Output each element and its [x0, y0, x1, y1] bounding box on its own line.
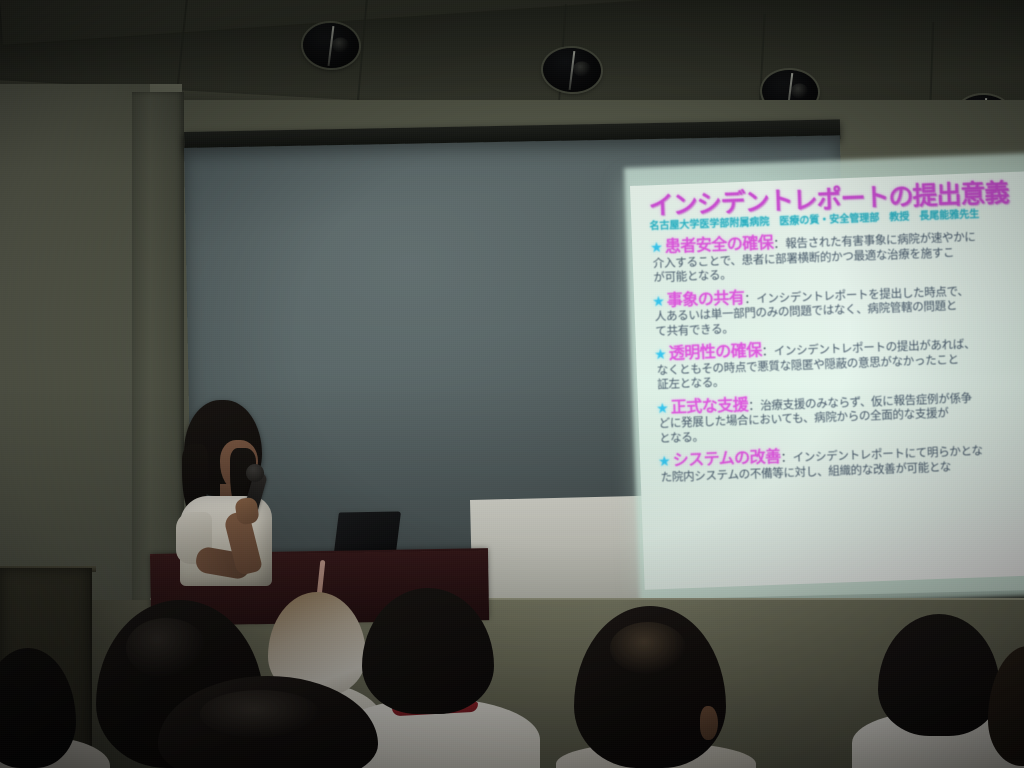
slide-bullet-list: ★患者安全の確保：報告された有害事象に病院が速やかに 介入することで、患者に部署… [650, 225, 1024, 484]
star-bullet-icon: ★ [656, 400, 669, 416]
star-bullet-icon: ★ [650, 240, 663, 256]
bullet-colon: ： [773, 236, 786, 250]
star-bullet-icon: ★ [652, 293, 665, 309]
presenter [176, 400, 316, 590]
projected-slide: インシデントレポートの提出意義 名古屋大学医学部附属病院 医療の質・安全管理部 … [630, 171, 1024, 589]
slide-bullet: ★システムの改善：インシデントレポートにて明らかとな た院内システムの不備等に対… [658, 439, 1024, 484]
slide-bullet: ★透明性の確保：インシデントレポートの提出があれば、 なくともその時点で悪質な隠… [654, 332, 1024, 392]
bullet-colon: ： [780, 450, 793, 464]
attendee-hair-highlight [200, 690, 320, 738]
recessed-downlight-icon [302, 22, 360, 70]
star-bullet-icon: ★ [658, 454, 671, 470]
ceiling-panel [0, 0, 1024, 46]
lecture-hall-photo: インシデントレポートの提出意義 名古屋大学医学部附属病院 医療の質・安全管理部 … [0, 0, 1024, 768]
bullet-colon: ： [761, 344, 774, 358]
attendee-hair-highlight [126, 618, 206, 678]
slide-bullet: ★事象の共有：インシデントレポートを提出した時点で、 人あるいは単一部門のみの問… [652, 279, 1024, 339]
bullet-colon: ： [744, 291, 757, 305]
bullet-colon: ： [748, 398, 761, 412]
presenter-hand [234, 497, 259, 526]
slide-bullet: ★患者安全の確保：報告された有害事象に病院が速やかに 介入することで、患者に部署… [650, 225, 1024, 285]
slide-bullet: ★正式な支援：治療支援のみならず、仮に報告症例が係争 どに発展した場合においても… [656, 386, 1024, 446]
attendee-center-man-ear [700, 706, 718, 740]
star-bullet-icon: ★ [654, 347, 667, 363]
recessed-downlight-icon [542, 47, 602, 94]
left-wall-panel [0, 84, 150, 604]
attendee-center-man-crown [610, 622, 686, 674]
